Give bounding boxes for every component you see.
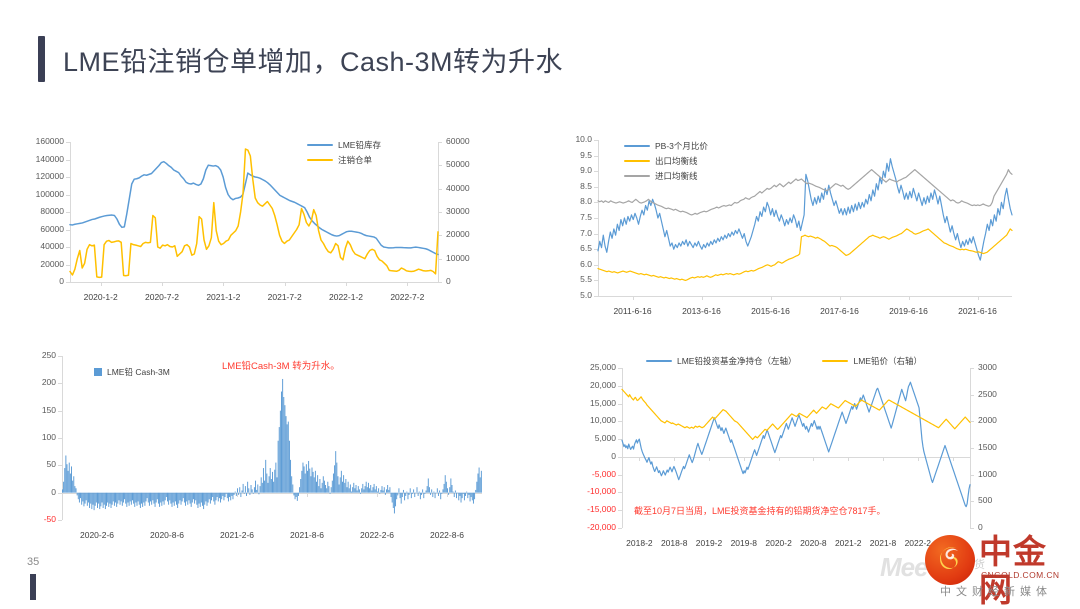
y2-axis-tick-label: 0	[978, 522, 983, 532]
x-axis-tick-label: 2013-6-16	[662, 306, 742, 316]
page-number: 35	[27, 556, 39, 568]
y2-axis-tick-label: 0	[446, 276, 451, 286]
x-axis-tick-label: 2022-7-2	[367, 292, 447, 302]
x-axis-tick-label: 2015-6-16	[731, 306, 811, 316]
chart-pb-ratio: PB-3个月比价 出口均衡线 进口均衡线 5.05.56.06.57.07.58…	[556, 136, 1026, 318]
x-axis-tick-label: 2021-6-16	[938, 306, 1018, 316]
chart4-legend: LME铅投资基金净持仓（左轴） LME铅价（右轴）	[646, 355, 922, 367]
line-series	[598, 159, 1012, 260]
y2-axis-tick-label: 1500	[978, 442, 997, 452]
page-title: LME铅注销仓单增加，Cash-3M转为升水	[38, 36, 563, 82]
line-series	[598, 229, 1012, 280]
y-axis-tick-label: 0	[24, 276, 64, 286]
title-accent-bar	[38, 36, 45, 82]
y-axis-tick-label: 8.5	[558, 181, 592, 191]
chart-cash-3m: LME铅 Cash-3M LME铅Cash-3M 转为升水。 -50050100…	[22, 352, 492, 544]
y-axis-tick-label: 7.5	[558, 212, 592, 222]
y2-axis-line	[438, 142, 439, 282]
y2-axis-tick-label: 30000	[446, 206, 470, 216]
logo-tagline: 中文财经新媒体	[940, 583, 1052, 599]
x-axis-tick-mark	[162, 282, 163, 286]
x-axis-line	[598, 296, 1012, 297]
legend-swatch-line-icon	[646, 360, 672, 363]
legend-item: LME铅投资基金净持仓（左轴）	[646, 355, 796, 367]
y-axis-tick-label: 7.0	[558, 228, 592, 238]
y-axis-tick-label: 100000	[24, 189, 64, 199]
logo: 中金网 CNGOLD.COM.CN 中文财经新媒体	[925, 533, 1080, 608]
y-axis-tick-label: 50	[24, 459, 56, 469]
y2-axis-tick-label: 10000	[446, 253, 470, 263]
y-axis-tick-label: 25,000	[560, 362, 616, 372]
x-axis-line	[70, 282, 438, 283]
y-axis-tick-mark	[58, 520, 62, 521]
legend-label: LME铅价（右轴）	[853, 355, 921, 367]
y-axis-tick-label: 9.5	[558, 150, 592, 160]
y-axis-tick-label: 200	[24, 377, 56, 387]
y-axis-tick-label: 140000	[24, 154, 64, 164]
logo-url: CNGOLD.COM.CN	[981, 570, 1059, 580]
x-axis-tick-label: 2021-2-6	[197, 530, 277, 540]
x-axis-tick-mark	[909, 296, 910, 300]
y-axis-tick-label: 8.0	[558, 196, 592, 206]
y-axis-tick-label: 0	[560, 451, 616, 461]
chart-lme-lead-stock: LME铅库存 注销仓单 0200004000060000800001000001…	[22, 136, 492, 308]
line-series	[70, 162, 438, 255]
y2-axis-tick-label: 50000	[446, 159, 470, 169]
y2-axis-tick-label: 2000	[978, 415, 997, 425]
chart-series-svg	[622, 368, 970, 528]
legend-swatch-line-icon	[822, 360, 848, 363]
chart3-plot-area: -500501001502002502020-2-62020-8-62021-2…	[62, 356, 482, 520]
y-axis-tick-label: 160000	[24, 136, 64, 146]
y-axis-tick-label: 120000	[24, 171, 64, 181]
y-axis-tick-label: 6.5	[558, 243, 592, 253]
logo-circle-icon	[925, 535, 975, 585]
chart-series-svg	[598, 140, 1012, 296]
chart-fund-net-position: LME铅投资基金净持仓（左轴） LME铅价（右轴） 截至10月7日当周，LME投…	[556, 352, 1034, 548]
x-axis-tick-mark	[407, 282, 408, 286]
x-axis-tick-mark	[223, 282, 224, 286]
y-axis-tick-label: 10,000	[560, 415, 616, 425]
line-series	[622, 382, 970, 506]
x-axis-tick-label: 2020-8-6	[127, 530, 207, 540]
y2-axis-tick-label: 1000	[978, 469, 997, 479]
y-axis-tick-label: 0	[24, 487, 56, 497]
chart-series-svg	[70, 142, 438, 282]
y-axis-tick-label: 60000	[24, 224, 64, 234]
y-axis-tick-label: -5,000	[560, 469, 616, 479]
y-axis-tick-label: 80000	[24, 206, 64, 216]
y-axis-tick-label: -10,000	[560, 486, 616, 496]
y-axis-tick-label: 5,000	[560, 433, 616, 443]
y-axis-tick-label: 5.5	[558, 274, 592, 284]
legend-label: LME铅投资基金净持仓（左轴）	[677, 355, 796, 367]
y-axis-tick-label: 10.0	[558, 134, 592, 144]
y2-axis-tick-label: 40000	[446, 183, 470, 193]
x-axis-tick-mark	[840, 296, 841, 300]
x-axis-tick-mark	[101, 282, 102, 286]
y-axis-tick-label: 150	[24, 405, 56, 415]
bar-series	[62, 379, 482, 513]
x-axis-tick-mark	[346, 282, 347, 286]
y-axis-tick-label: -15,000	[560, 504, 616, 514]
y-axis-tick-label: 9.0	[558, 165, 592, 175]
y2-axis-tick-mark	[438, 282, 442, 283]
chart1-plot-area: 0200004000060000800001000001200001400001…	[70, 142, 438, 282]
y2-axis-line	[970, 368, 971, 528]
line-series	[622, 389, 970, 439]
x-axis-tick-mark	[633, 296, 634, 300]
y-axis-tick-label: 6.0	[558, 259, 592, 269]
chart2-plot-area: 5.05.56.06.57.07.58.08.59.09.510.02011-6…	[598, 140, 1012, 296]
x-axis-tick-label: 2022-2-6	[337, 530, 417, 540]
y2-axis-tick-label: 500	[978, 495, 992, 505]
slide-root: LME铅注销仓单增加，Cash-3M转为升水 LME铅库存 注销仓单 02000…	[0, 0, 1080, 608]
chart-series-svg	[62, 356, 482, 520]
x-axis-tick-label: 2020-2-6	[57, 530, 137, 540]
y-axis-tick-label: -50	[24, 514, 56, 524]
chart4-plot-area: -20,000-15,000-10,000-5,00005,00010,0001…	[622, 368, 970, 528]
legend-item: LME铅价（右轴）	[822, 355, 921, 367]
x-axis-tick-mark	[771, 296, 772, 300]
x-axis-tick-label: 2017-6-16	[800, 306, 880, 316]
y2-axis-tick-label: 3000	[978, 362, 997, 372]
x-axis-tick-label: 2011-6-16	[593, 306, 673, 316]
logo-swirl-icon	[936, 545, 964, 576]
x-axis-tick-label: 2019-6-16	[869, 306, 949, 316]
y2-axis-tick-mark	[970, 528, 974, 529]
y2-axis-tick-label: 2500	[978, 389, 997, 399]
title-text: LME铅注销仓单增加，Cash-3M转为升水	[63, 40, 563, 79]
y-axis-tick-label: -20,000	[560, 522, 616, 532]
line-series	[70, 149, 438, 277]
y-axis-tick-label: 5.0	[558, 290, 592, 300]
y-axis-tick-label: 100	[24, 432, 56, 442]
y2-axis-tick-label: 20000	[446, 229, 470, 239]
y-axis-tick-label: 40000	[24, 241, 64, 251]
x-axis-tick-mark	[978, 296, 979, 300]
watermark-text: Mee	[880, 552, 928, 583]
x-axis-tick-mark	[285, 282, 286, 286]
y-axis-tick-label: 20,000	[560, 380, 616, 390]
y-axis-tick-label: 20000	[24, 259, 64, 269]
y-axis-tick-label: 15,000	[560, 398, 616, 408]
page-accent-bar	[30, 574, 36, 600]
x-axis-tick-label: 2021-8-6	[267, 530, 347, 540]
x-axis-tick-mark	[702, 296, 703, 300]
y-axis-tick-label: 250	[24, 350, 56, 360]
y-axis-tick-mark	[618, 528, 622, 529]
y2-axis-tick-label: 60000	[446, 136, 470, 146]
x-axis-tick-label: 2022-8-6	[407, 530, 487, 540]
